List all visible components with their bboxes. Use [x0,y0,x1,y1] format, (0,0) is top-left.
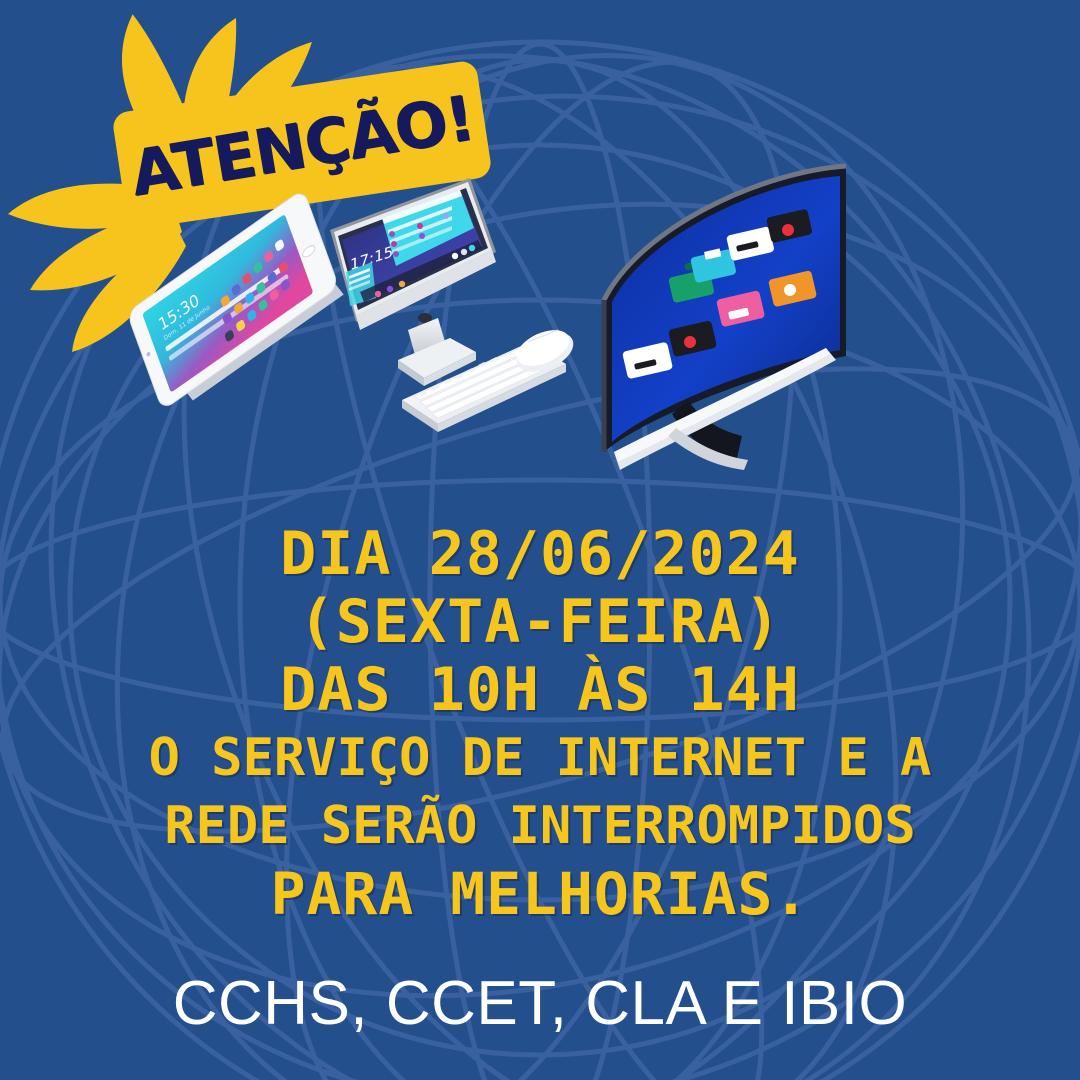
headline-line-6: PARA MELHORIAS. [0,860,1080,928]
headline-line-1: DIA 28/06/2024 [0,520,1080,588]
headline-line-4: O SERVIÇO DE INTERNET E A [0,724,1080,792]
poster-canvas: ATENÇÃO! [0,0,1080,1080]
tablet-device: 15:30 Dom, 11 de Junho [108,188,360,411]
headline-line-5: REDE SERÃO INTERROMPIDOS [0,792,1080,860]
desktop-computer: 17:15 [330,178,496,386]
headline-line-2: (SEXTA-FEIRA) [0,588,1080,656]
curved-smart-tv [604,166,846,470]
headline-block: DIA 28/06/2024 (SEXTA-FEIRA) DAS 10H ÀS … [0,520,1080,928]
headline-line-3: DAS 10H ÀS 14H [0,656,1080,724]
footer-units-label: CCHS, CCET, CLA E IBIO [0,968,1080,1039]
